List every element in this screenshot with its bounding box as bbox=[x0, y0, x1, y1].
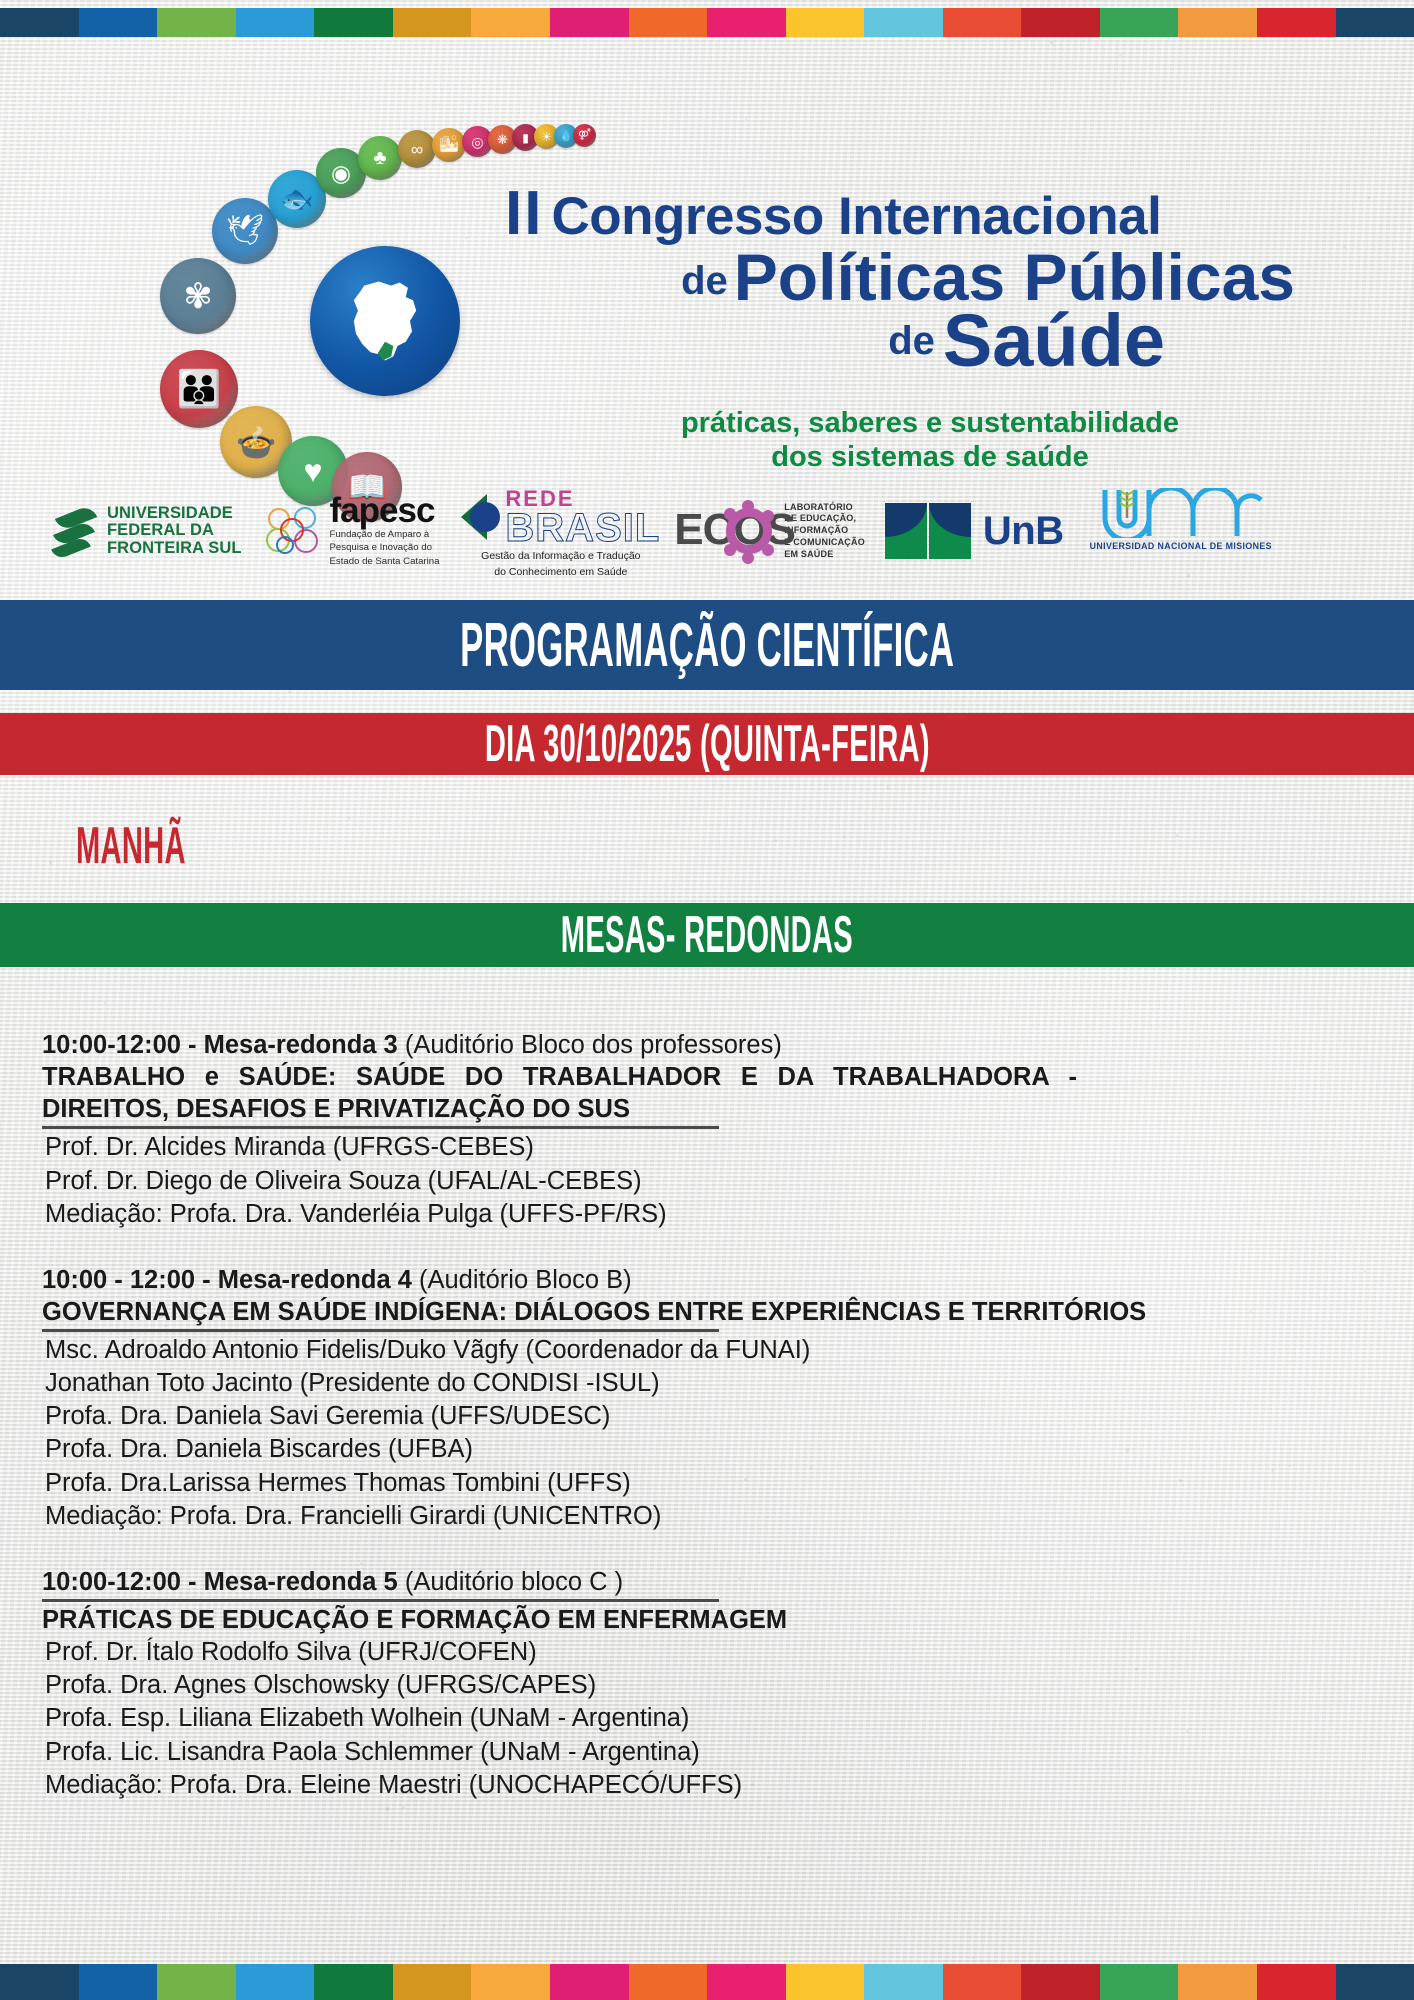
unam-mark-icon bbox=[1097, 488, 1265, 538]
sdg-color-block-14 bbox=[1021, 1964, 1100, 2000]
sdg-color-block-1 bbox=[0, 1964, 79, 2000]
sdg-color-block-12 bbox=[864, 8, 943, 37]
congress-title: IICongresso Internacional dePolíticas Pú… bbox=[505, 184, 1295, 375]
sdg-color-block-15 bbox=[1100, 8, 1179, 37]
session-header: 10:00-12:00 - Mesa-redonda 3 (Auditório … bbox=[42, 1030, 1077, 1061]
fapesc-logo: fapesc Fundação de Amparo à Pesquisa e I… bbox=[264, 488, 440, 574]
section-banner: MESAS- REDONDAS bbox=[0, 903, 1414, 967]
rede-brasil-sub-1: Gestão da Informação e Tradução bbox=[461, 550, 660, 562]
session-block: 10:00-12:00 - Mesa-redonda 5 (Auditório … bbox=[42, 1567, 1077, 1802]
session-title: GOVERNANÇA EM SAÚDE INDÍGENA: DIÁLOGOS E… bbox=[42, 1296, 1077, 1328]
sdg-color-block-13 bbox=[943, 1964, 1022, 2000]
session-title: TRABALHO e SAÚDE: SAÚDE DO TRABALHADOR E… bbox=[42, 1061, 1077, 1125]
session-label: Mesa-redonda 4 bbox=[218, 1266, 419, 1294]
session-participant: Mediação: Profa. Dra. Eleine Maestri (UN… bbox=[45, 1769, 1077, 1802]
session-header: 10:00 - 12:00 - Mesa-redonda 4 (Auditóri… bbox=[42, 1265, 1077, 1296]
sdg-color-block-2 bbox=[79, 1964, 158, 2000]
sdg-color-block-16 bbox=[1178, 1964, 1257, 2000]
session-participants: Prof. Dr. Alcides Miranda (UFRGS-CEBES)P… bbox=[45, 1131, 1077, 1230]
ecos-sub-3: INFORMAÇÃO bbox=[784, 525, 865, 537]
fapesc-sub-3: Estado de Santa Catarina bbox=[330, 556, 440, 567]
sdg-flower-icon: ✾ bbox=[160, 258, 236, 334]
session-participant: Prof. Dr. Diego de Oliveira Souza (UFAL/… bbox=[45, 1165, 1077, 1198]
session-participant: Prof. Dr. Alcides Miranda (UFRGS-CEBES) bbox=[45, 1131, 1077, 1164]
fapesc-brain-icon bbox=[264, 502, 322, 560]
fapesc-sub-1: Fundação de Amparo à bbox=[330, 529, 440, 540]
unb-logo: UnB bbox=[885, 488, 1064, 574]
sdg-zero-hunger-people-icon: 👪 bbox=[160, 350, 238, 428]
uffs-wordmark: UNIVERSIDADE FEDERAL DA FRONTEIRA SUL bbox=[107, 505, 242, 557]
sdg-color-block-3 bbox=[157, 8, 236, 37]
sdg-peace-dove-icon: 🕊 bbox=[212, 198, 278, 264]
title-roman-numeral: II bbox=[505, 179, 543, 248]
tagline-line-2: dos sistemas de saúde bbox=[570, 440, 1290, 474]
fapesc-text: fapesc Fundação de Amparo à Pesquisa e I… bbox=[330, 495, 440, 567]
uffs-line-2: FEDERAL DA bbox=[107, 522, 242, 539]
sdg-color-strip-top bbox=[0, 8, 1414, 37]
uffs-line-1: UNIVERSIDADE bbox=[107, 505, 242, 522]
session-header: 10:00-12:00 - Mesa-redonda 5 (Auditório … bbox=[42, 1567, 1077, 1598]
rede-brasil-brasil-text: BRASIL bbox=[505, 510, 660, 546]
unam-sub-text: UNIVERSIDAD NACIONAL DE MISIONES bbox=[1090, 541, 1272, 551]
tagline-line-1: práticas, saberes e sustentabilidade bbox=[570, 406, 1290, 440]
sdg-color-block-5 bbox=[314, 1964, 393, 2000]
congress-tagline: práticas, saberes e sustentabilidade dos… bbox=[570, 406, 1290, 474]
sdg-color-block-9 bbox=[629, 8, 708, 37]
sdg-color-block-7 bbox=[471, 8, 550, 37]
ecos-sub-text: LABORATÓRIO DE EDUCAÇÃO, INFORMAÇÃO E CO… bbox=[784, 502, 865, 560]
uffs-line-3: FRONTEIRA SUL bbox=[107, 540, 242, 557]
unb-wordmark: UnB bbox=[983, 509, 1064, 554]
day-banner: DIA 30/10/2025 (QUINTA-FEIRA) bbox=[0, 713, 1414, 775]
session-block: 10:00-12:00 - Mesa-redonda 3 (Auditório … bbox=[42, 1030, 1077, 1231]
sdg-color-block-6 bbox=[393, 8, 472, 37]
session-list: 10:00-12:00 - Mesa-redonda 3 (Auditório … bbox=[42, 1030, 1077, 1836]
sdg-color-block-12 bbox=[864, 1964, 943, 2000]
title-line-3-prefix: de bbox=[888, 319, 935, 363]
session-participant: Jonathan Toto Jacinto (Presidente do CON… bbox=[45, 1367, 1077, 1400]
uffs-logo: UNIVERSIDADE FEDERAL DA FRONTEIRA SUL bbox=[54, 488, 242, 574]
sdg-color-block-4 bbox=[236, 8, 315, 37]
session-participants: Prof. Dr. Ítalo Rodolfo Silva (UFRJ/COFE… bbox=[45, 1636, 1077, 1802]
session-participant: Profa. Lic. Lisandra Paola Schlemmer (UN… bbox=[45, 1736, 1077, 1769]
session-participant: Profa. Dra. Daniela Savi Geremia (UFFS/U… bbox=[45, 1400, 1077, 1433]
session-time: 10:00-12:00 - bbox=[42, 1031, 204, 1059]
title-line-1: IICongresso Internacional bbox=[505, 184, 1295, 244]
session-venue: (Auditório bloco C ) bbox=[405, 1568, 623, 1596]
sdg-infinity-icon: ∞ bbox=[398, 130, 436, 168]
ecos-logo: ECOS LABORATÓRIO DE EDUCAÇÃO, INFORMAÇÃO… bbox=[674, 488, 865, 574]
session-divider bbox=[42, 1599, 719, 1602]
session-title: PRÁTICAS DE EDUCAÇÃO E FORMAÇÃO EM ENFER… bbox=[42, 1604, 1077, 1636]
session-participant: Msc. Adroaldo Antonio Fidelis/Duko Vãgfy… bbox=[45, 1334, 1077, 1367]
sdg-color-block-5 bbox=[314, 8, 393, 37]
sdg-color-block-18 bbox=[1336, 1964, 1414, 2000]
section-banner-text: MESAS- REDONDAS bbox=[561, 905, 853, 965]
sdg-color-block-14 bbox=[1021, 8, 1100, 37]
sdg-color-block-17 bbox=[1257, 1964, 1336, 2000]
fapesc-sub-2: Pesquisa e Inovação do bbox=[330, 542, 440, 553]
sdg-color-block-3 bbox=[157, 1964, 236, 2000]
session-venue: (Auditório Bloco dos professores) bbox=[405, 1031, 782, 1059]
sdg-color-block-8 bbox=[550, 1964, 629, 2000]
session-label: Mesa-redonda 3 bbox=[204, 1031, 405, 1059]
sdg-city-icon: 🏙 bbox=[432, 128, 466, 162]
day-banner-text: DIA 30/10/2025 (QUINTA-FEIRA) bbox=[484, 714, 929, 774]
session-participant: Mediação: Profa. Dra. Vanderléia Pulga (… bbox=[45, 1198, 1077, 1231]
session-time: 10:00 - 12:00 - bbox=[42, 1266, 218, 1294]
ecos-mark-icon: ECOS bbox=[674, 500, 778, 562]
fapesc-wordmark: fapesc bbox=[330, 495, 440, 527]
sdg-color-block-10 bbox=[707, 8, 786, 37]
session-divider bbox=[42, 1126, 719, 1129]
sdg-color-block-9 bbox=[629, 1964, 708, 2000]
session-participant: Profa. Dra. Agnes Olschowsky (UFRGS/CAPE… bbox=[45, 1669, 1077, 1702]
sdg-color-block-2 bbox=[79, 8, 158, 37]
sdg-gender-equality-icon: ⚤ bbox=[573, 124, 596, 147]
session-participant: Profa. Dra. Daniela Biscardes (UFBA) bbox=[45, 1433, 1077, 1466]
ecos-sub-2: DE EDUCAÇÃO, bbox=[784, 513, 865, 525]
uffs-leaf-icon bbox=[54, 505, 98, 557]
poster-page: ✾🕊🐟◉♣∞🏙◎❋▮☀💧⚤👪🍲♥📖 IICongresso Internacio… bbox=[0, 0, 1414, 2000]
sdg-color-block-7 bbox=[471, 1964, 550, 2000]
rede-brasil-sub-2: do Conhecimento em Saúde bbox=[461, 566, 660, 578]
period-label: MANHÃ bbox=[76, 816, 186, 876]
session-participants: Msc. Adroaldo Antonio Fidelis/Duko Vãgfy… bbox=[45, 1334, 1077, 1533]
session-venue: (Auditório Bloco B) bbox=[419, 1266, 632, 1294]
sdg-color-block-13 bbox=[943, 8, 1022, 37]
title-line-2-prefix: de bbox=[681, 259, 728, 303]
sdg-color-block-10 bbox=[707, 1964, 786, 2000]
programme-banner: PROGRAMAÇÃO CIENTÍFICA bbox=[0, 600, 1414, 690]
ecos-sub-5: EM SAÚDE bbox=[784, 549, 865, 561]
congress-logo: ✾🕊🐟◉♣∞🏙◎❋▮☀💧⚤👪🍲♥📖 IICongresso Internacio… bbox=[150, 106, 1280, 406]
session-participant: Mediação: Profa. Dra. Francielli Girardi… bbox=[45, 1500, 1077, 1533]
sdg-color-block-17 bbox=[1257, 8, 1336, 37]
sdg-color-block-6 bbox=[393, 1964, 472, 2000]
ecos-sub-4: E COMUNICAÇÃO bbox=[784, 537, 865, 549]
sdg-color-block-18 bbox=[1336, 8, 1414, 37]
sdg-color-block-11 bbox=[786, 8, 865, 37]
sdg-color-strip-bottom bbox=[0, 1964, 1414, 2000]
title-line-1-text: Congresso Internacional bbox=[551, 187, 1161, 246]
sdg-color-block-1 bbox=[0, 8, 79, 37]
sdg-tree-icon: ♣ bbox=[358, 136, 402, 180]
title-line-2: dePolíticas Públicas bbox=[505, 246, 1295, 308]
rede-brasil-logo: REDE BRASIL Gestão da Informação e Tradu… bbox=[461, 488, 660, 574]
ecos-sub-1: LABORATÓRIO bbox=[784, 502, 865, 514]
sdg-color-block-4 bbox=[236, 1964, 315, 2000]
unam-logo: UNIVERSIDAD NACIONAL DE MISIONES bbox=[1090, 488, 1272, 574]
session-participant: Prof. Dr. Ítalo Rodolfo Silva (UFRJ/COFE… bbox=[45, 1636, 1077, 1669]
title-line-3: deSaúde bbox=[505, 306, 1295, 376]
session-label: Mesa-redonda 5 bbox=[204, 1568, 405, 1596]
rede-brasil-globe-icon bbox=[470, 502, 500, 532]
session-block: 10:00 - 12:00 - Mesa-redonda 4 (Auditóri… bbox=[42, 1265, 1077, 1533]
session-participant: Profa. Esp. Liliana Elizabeth Wolhein (U… bbox=[45, 1702, 1077, 1735]
session-participant: Profa. Dra.Larissa Hermes Thomas Tombini… bbox=[45, 1467, 1077, 1500]
title-line-3-text: Saúde bbox=[943, 299, 1165, 382]
session-divider bbox=[42, 1329, 719, 1332]
session-time: 10:00-12:00 - bbox=[42, 1568, 204, 1596]
sponsor-logos-row: UNIVERSIDADE FEDERAL DA FRONTEIRA SUL fa… bbox=[0, 488, 1414, 574]
sdg-color-block-16 bbox=[1178, 8, 1257, 37]
brazil-globe-icon bbox=[310, 246, 460, 396]
programme-banner-text: PROGRAMAÇÃO CIENTÍFICA bbox=[460, 610, 954, 681]
unb-mark-icon bbox=[885, 503, 971, 559]
sdg-color-block-8 bbox=[550, 8, 629, 37]
congress-header: ✾🕊🐟◉♣∞🏙◎❋▮☀💧⚤👪🍲♥📖 IICongresso Internacio… bbox=[0, 46, 1414, 466]
sdg-color-block-11 bbox=[786, 1964, 865, 2000]
sdg-color-block-15 bbox=[1100, 1964, 1179, 2000]
